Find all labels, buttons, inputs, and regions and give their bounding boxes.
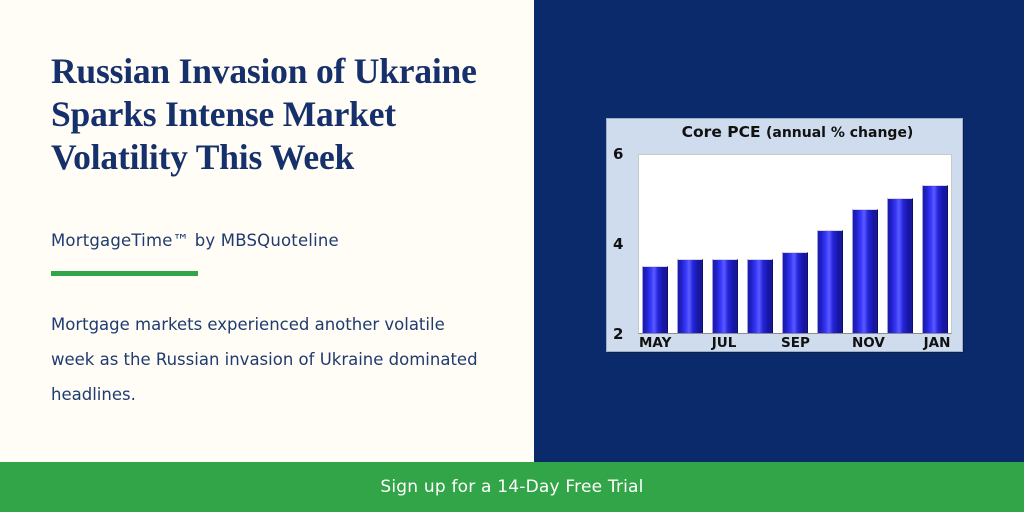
x-label-jul: JUL bbox=[710, 335, 738, 353]
page-title: Russian Invasion of Ukraine Sparks Inten… bbox=[51, 50, 501, 179]
signup-cta-label: Sign up for a 14-Day Free Trial bbox=[380, 477, 643, 497]
x-label-nov: NOV bbox=[852, 335, 880, 353]
bar-jun bbox=[677, 259, 703, 333]
bar-jul bbox=[712, 259, 738, 333]
x-axis-labels: MAYJUNJULAUGSEPOCTNOVDECJAN bbox=[638, 335, 952, 353]
bar-nov bbox=[852, 209, 878, 333]
y-axis-tick-6: 6 bbox=[613, 147, 623, 162]
chart-panel: Core PCE (annual % change) 6 4 2 MAYJUNJ… bbox=[534, 0, 1024, 462]
x-label-sep: SEP bbox=[781, 335, 809, 353]
bar-oct bbox=[817, 230, 843, 334]
signup-cta-banner[interactable]: Sign up for a 14-Day Free Trial bbox=[0, 462, 1024, 512]
bar-dec bbox=[887, 198, 913, 333]
x-label-may: MAY bbox=[639, 335, 667, 353]
bar-jan bbox=[922, 185, 948, 334]
bar-aug bbox=[747, 259, 773, 333]
bar-may bbox=[642, 266, 668, 334]
core-pce-chart: Core PCE (annual % change) 6 4 2 MAYJUNJ… bbox=[606, 118, 963, 352]
y-axis-tick-2: 2 bbox=[613, 327, 623, 342]
plot-area bbox=[638, 154, 952, 334]
article-body: Mortgage markets experienced another vol… bbox=[51, 307, 481, 412]
accent-divider bbox=[51, 271, 198, 276]
bar-series bbox=[639, 155, 951, 333]
chart-title-sub: (annual % change) bbox=[766, 125, 913, 141]
newsletter-card: Russian Invasion of Ukraine Sparks Inten… bbox=[0, 0, 1024, 512]
bar-sep bbox=[782, 252, 808, 333]
article-panel: Russian Invasion of Ukraine Sparks Inten… bbox=[0, 0, 534, 462]
x-label-jan: JAN bbox=[923, 335, 951, 353]
chart-title-main: Core PCE bbox=[682, 123, 761, 141]
brand-subtitle: MortgageTime™ by MBSQuoteline bbox=[51, 231, 339, 250]
chart-title: Core PCE (annual % change) bbox=[607, 123, 962, 141]
y-axis-tick-4: 4 bbox=[613, 237, 623, 252]
